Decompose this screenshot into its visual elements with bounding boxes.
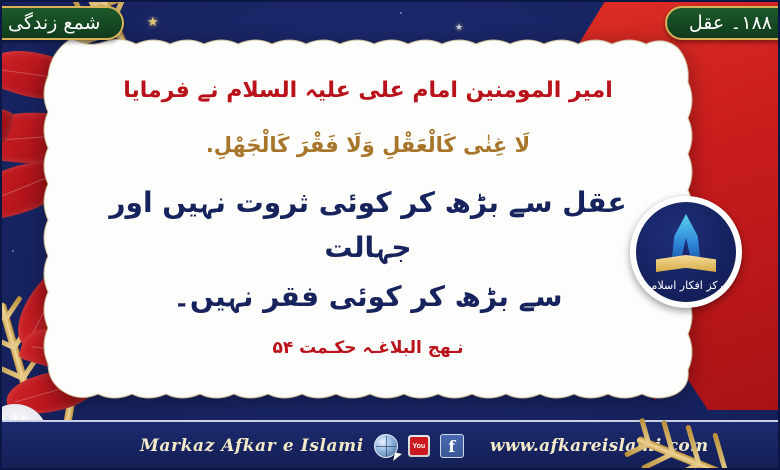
youtube-icon[interactable]: You bbox=[408, 435, 430, 457]
brand-name: Markaz Afkar e Islami bbox=[140, 436, 364, 456]
badge-left-label: شمع زندگی bbox=[8, 12, 100, 34]
facebook-icon[interactable]: f bbox=[440, 434, 464, 458]
logo-disc: مرکز افکار اسلامی bbox=[636, 202, 736, 302]
cursor-arrow-icon bbox=[393, 452, 402, 462]
footer-content: Markaz Afkar e Islami You f www.afkareis… bbox=[140, 434, 708, 458]
poster-canvas: ★ ★ ★ bbox=[0, 0, 780, 470]
star-dot bbox=[400, 12, 402, 14]
open-book-icon bbox=[656, 254, 716, 272]
urdu-translation-line-2: سے بڑھ کر کوئی فقر نہیں۔ bbox=[58, 275, 678, 320]
star-icon: ★ bbox=[147, 16, 159, 29]
attribution-line: امیر المومنین امام علی علیہ السلام نے فر… bbox=[58, 78, 678, 103]
logo-label: مرکز افکار اسلامی bbox=[636, 279, 736, 292]
facebook-icon-label: f bbox=[448, 437, 455, 456]
logo-medallion[interactable]: مرکز افکار اسلامی bbox=[630, 196, 742, 308]
globe-icon[interactable] bbox=[374, 434, 398, 458]
badge-topic-number[interactable]: ۱۸۸۔ عقل bbox=[665, 6, 780, 40]
badge-shama-e-zindagi[interactable]: شمع زندگی bbox=[0, 6, 124, 40]
star-dot bbox=[12, 250, 14, 252]
youtube-icon-label: You bbox=[410, 437, 428, 455]
arabic-hadith: لَا غِنٰى كَالْعَقْلِ وَلَا فَقْرَ كَالْ… bbox=[58, 133, 678, 157]
reference-citation: نـهج البلاغـہ حکـمت ۵۴ bbox=[58, 337, 678, 358]
badge-right-label: ۱۸۸۔ عقل bbox=[689, 12, 772, 34]
minaret-arch-icon bbox=[665, 214, 707, 260]
star-icon: ★ bbox=[455, 24, 463, 33]
urdu-translation-line-1: عقل سے بڑھ کر کوئی ثروت نہیں اور جہالت bbox=[58, 181, 678, 271]
quote-text-block: امیر المومنین امام علی علیہ السلام نے فر… bbox=[58, 50, 678, 400]
